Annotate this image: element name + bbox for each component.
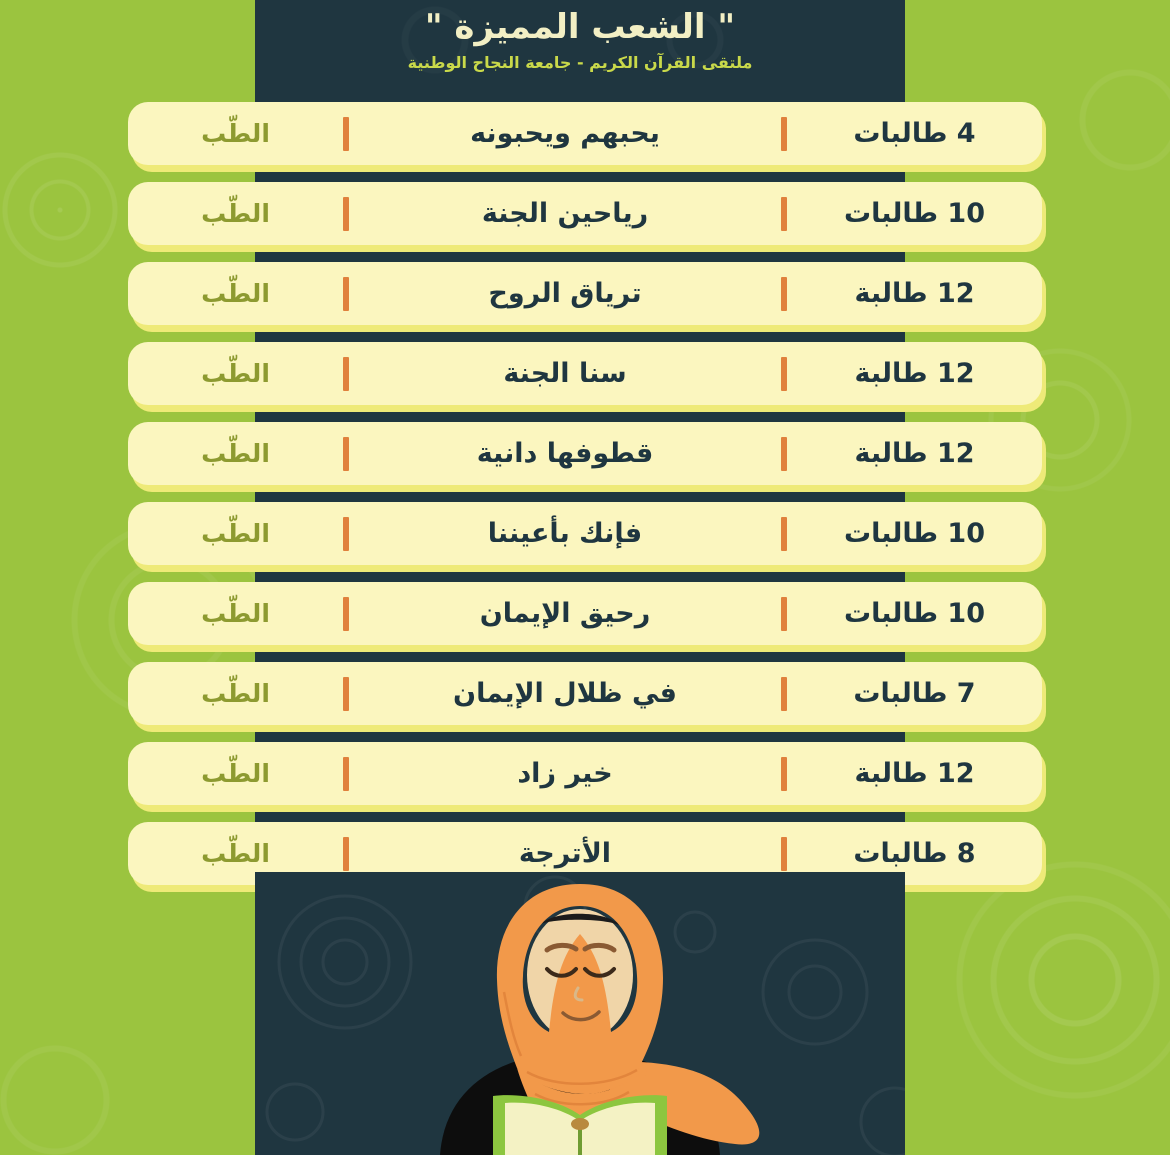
separator-bar-icon [781,677,787,711]
cell-department: الطّب [128,679,343,708]
cell-department: الطّب [128,519,343,548]
cell-student-count: 12 طالبة [787,358,1042,389]
cell-student-count: 12 طالبة [787,438,1042,469]
cell-department: الطّب [128,279,343,308]
cell-group-name: قطوفها دانية [349,438,781,469]
separator-bar-icon [781,517,787,551]
cell-department: الطّب [128,359,343,388]
table-row: الطّبقطوفها دانية12 طالبة [0,416,1170,496]
table-row: الطّبفإنك بأعيننا10 طالبات [0,496,1170,576]
cell-student-count: 10 طالبات [787,198,1042,229]
table-row: الطّبيحبهم ويحبونه4 طالبات [0,96,1170,176]
separator-bar-icon [343,517,349,551]
cell-department: الطّب [128,199,343,228]
table-row: الطّبفي ظلال الإيمان7 طالبات [0,656,1170,736]
cell-group-name: الأترجة [349,838,781,869]
cell-group-name: في ظلال الإيمان [349,678,781,709]
separator-bar-icon [781,437,787,471]
cell-department: الطّب [128,119,343,148]
group-card[interactable]: الطّبرحيق الإيمان10 طالبات [128,582,1042,645]
separator-bar-icon [343,117,349,151]
separator-bar-icon [781,117,787,151]
cell-student-count: 12 طالبة [787,758,1042,789]
illustration-container [255,872,905,1155]
separator-bar-icon [781,357,787,391]
cell-group-name: يحبهم ويحبونه [349,118,781,149]
cell-student-count: 8 طالبات [787,838,1042,869]
group-card[interactable]: الطّبخير زاد12 طالبة [128,742,1042,805]
separator-bar-icon [781,837,787,871]
cell-student-count: 12 طالبة [787,278,1042,309]
cell-group-name: سنا الجنة [349,358,781,389]
table-row: الطّبخير زاد12 طالبة [0,736,1170,816]
separator-bar-icon [781,757,787,791]
group-card[interactable]: الطّبسنا الجنة12 طالبة [128,342,1042,405]
cell-group-name: رحيق الإيمان [349,598,781,629]
group-card[interactable]: الطّبرياحين الجنة10 طالبات [128,182,1042,245]
group-card[interactable]: الطّبفإنك بأعيننا10 طالبات [128,502,1042,565]
separator-bar-icon [781,197,787,231]
separator-bar-icon [343,597,349,631]
table-row: الطّبترياق الروح12 طالبة [0,256,1170,336]
separator-bar-icon [343,837,349,871]
cell-student-count: 7 طالبات [787,678,1042,709]
cell-group-name: خير زاد [349,758,781,789]
page-title: " الشعب المميزة " [255,6,905,49]
group-card[interactable]: الطّبفي ظلال الإيمان7 طالبات [128,662,1042,725]
group-card[interactable]: الطّبيحبهم ويحبونه4 طالبات [128,102,1042,165]
cell-group-name: رياحين الجنة [349,198,781,229]
cell-group-name: فإنك بأعيننا [349,518,781,549]
header: " الشعب المميزة " ملتقى القرآن الكريم - … [255,0,905,96]
cell-student-count: 10 طالبات [787,598,1042,629]
separator-bar-icon [343,197,349,231]
table-row: الطّبسنا الجنة12 طالبة [0,336,1170,416]
cell-student-count: 4 طالبات [787,118,1042,149]
separator-bar-icon [343,757,349,791]
separator-bar-icon [343,277,349,311]
separator-bar-icon [343,677,349,711]
cell-department: الطّب [128,599,343,628]
table-row: الطّبرحيق الإيمان10 طالبات [0,576,1170,656]
cell-student-count: 10 طالبات [787,518,1042,549]
page-subtitle: ملتقى القرآن الكريم - جامعة النجاح الوطن… [255,53,905,72]
separator-bar-icon [343,437,349,471]
group-card[interactable]: الطّبقطوفها دانية12 طالبة [128,422,1042,485]
separator-bar-icon [781,277,787,311]
cell-department: الطّب [128,839,343,868]
separator-bar-icon [343,357,349,391]
table-row: الطّبرياحين الجنة10 طالبات [0,176,1170,256]
cell-group-name: ترياق الروح [349,278,781,309]
woman-reading-quran-icon [255,872,905,1155]
separator-bar-icon [781,597,787,631]
groups-table: الطّبيحبهم ويحبونه4 طالباتالطّبرياحين ال… [0,96,1170,896]
cell-department: الطّب [128,759,343,788]
group-card[interactable]: الطّبترياق الروح12 طالبة [128,262,1042,325]
cell-department: الطّب [128,439,343,468]
